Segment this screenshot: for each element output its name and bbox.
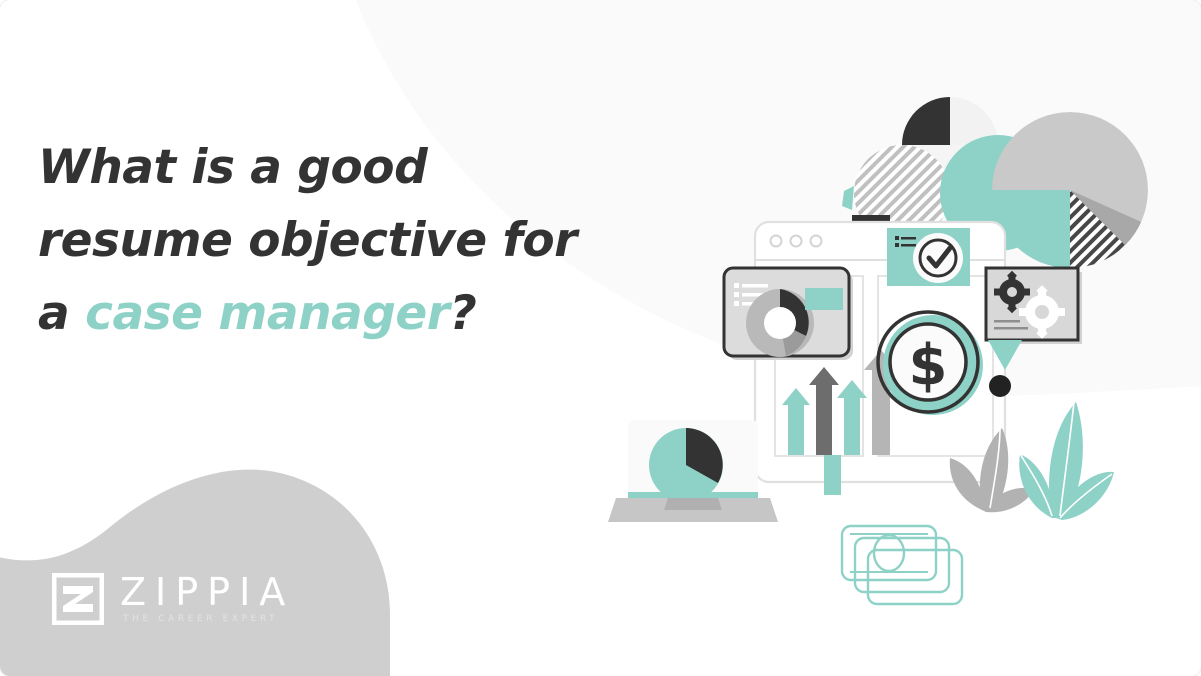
donut-chart [746, 289, 814, 357]
page-title: What is a good resume objective for a ca… [38, 131, 638, 350]
zippia-logo[interactable]: ZIPPIA THE CAREER EXPERT [52, 572, 294, 626]
headline-accent: case manager [85, 286, 449, 341]
laptop-pie-chart [608, 420, 778, 522]
teal-rectangle [824, 455, 841, 495]
career-analytics-illustration: $ [600, 40, 1200, 640]
svg-text:$: $ [909, 333, 948, 398]
stacked-banknotes [842, 526, 962, 604]
gears-card [986, 268, 1082, 344]
background-blob [0, 455, 390, 676]
page-root: What is a good resume objective for a ca… [0, 0, 1201, 676]
donut-chart-card [724, 268, 853, 360]
pie-chart-large [992, 112, 1148, 268]
zippia-z-mark-icon [52, 573, 104, 625]
headline-suffix: ? [449, 286, 476, 341]
headline-line-3: a case manager? [38, 277, 638, 350]
dark-dot [989, 375, 1011, 397]
headline-line-1: What is a good [38, 131, 638, 204]
checkmark-card [887, 228, 970, 286]
logo-tagline: THE CAREER EXPERT [120, 612, 294, 626]
headline-line-2: resume objective for [38, 204, 638, 277]
logo-wordmark: ZIPPIA [120, 572, 294, 612]
logo-text-block: ZIPPIA THE CAREER EXPERT [120, 572, 294, 626]
headline-prefix: a [38, 286, 85, 341]
